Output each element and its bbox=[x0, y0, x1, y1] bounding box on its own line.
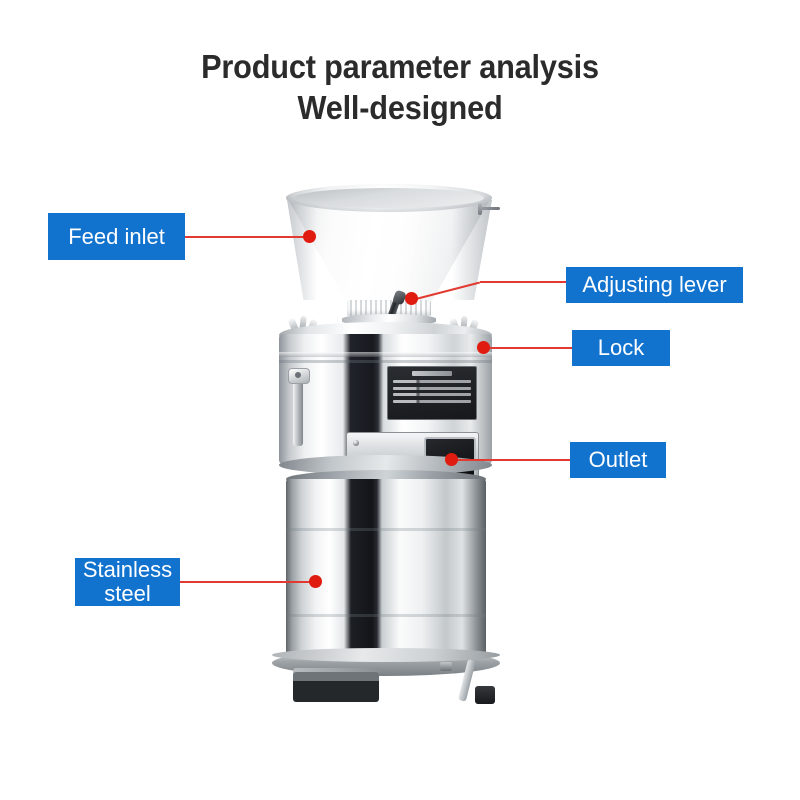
leader-dot-feed-inlet bbox=[303, 230, 316, 243]
product-illustration bbox=[0, 0, 800, 800]
callout-adjusting-lever-label: Adjusting lever bbox=[582, 273, 726, 297]
drum-seam bbox=[286, 528, 486, 531]
drum-seam bbox=[286, 614, 486, 617]
base-flange-lip bbox=[272, 648, 500, 662]
base-bolt bbox=[440, 662, 452, 671]
callout-outlet[interactable]: Outlet bbox=[570, 442, 666, 478]
leader-dot-stainless-steel bbox=[309, 575, 322, 588]
callout-adjusting-lever[interactable]: Adjusting lever bbox=[566, 267, 743, 303]
leader-dot-outlet bbox=[445, 453, 458, 466]
leader-line-lock bbox=[484, 347, 573, 349]
callout-outlet-label: Outlet bbox=[589, 448, 648, 472]
latch-pin bbox=[295, 372, 301, 378]
leader-line-stainless-steel bbox=[179, 581, 314, 583]
latch-arm bbox=[293, 376, 303, 446]
hopper-clip-icon bbox=[476, 203, 500, 215]
callout-feed-inlet[interactable]: Feed inlet bbox=[48, 213, 185, 260]
leader-line-outlet bbox=[452, 459, 571, 461]
callout-stainless-steel[interactable]: Stainless steel bbox=[75, 558, 180, 606]
right-foot bbox=[475, 686, 495, 704]
nameplate-row bbox=[393, 387, 471, 390]
leader-line-adjusting-lever-h bbox=[480, 281, 567, 283]
callout-feed-inlet-label: Feed inlet bbox=[68, 225, 165, 249]
nameplate-heading bbox=[412, 371, 452, 376]
callout-lock[interactable]: Lock bbox=[572, 330, 670, 366]
front-foot bbox=[293, 672, 379, 702]
nameplate bbox=[387, 366, 477, 420]
leader-dot-lock bbox=[477, 341, 490, 354]
leader-dot-adjusting-lever bbox=[405, 292, 418, 305]
callout-stainless-steel-label-line1: Stainless bbox=[83, 558, 172, 582]
nameplate-row bbox=[393, 400, 471, 403]
leader-line-feed-inlet bbox=[184, 236, 308, 238]
nameplate-row bbox=[393, 393, 471, 396]
hopper-shade-left bbox=[287, 200, 317, 300]
chamber-ring-lower bbox=[279, 360, 492, 363]
hopper-rim-inner bbox=[294, 188, 484, 208]
lower-drum bbox=[286, 479, 486, 659]
callout-stainless-steel-label-line2: steel bbox=[104, 582, 150, 606]
callout-lock-label: Lock bbox=[598, 336, 644, 360]
chamber-ring-upper bbox=[279, 352, 492, 357]
nameplate-row bbox=[393, 380, 471, 383]
outlet-rivet bbox=[353, 440, 359, 446]
infographic-canvas: Product parameter analysis Well-designed bbox=[0, 0, 800, 800]
